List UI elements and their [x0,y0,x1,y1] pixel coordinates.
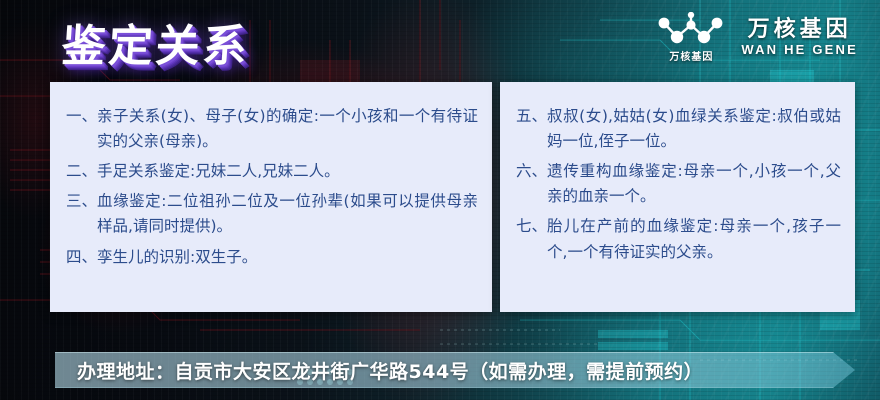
address-banner: 办理地址：自贡市大安区龙井街广华路544号（如需办理，需提前预约） [55,352,855,388]
list-item: 三、 血缘鉴定:二位祖孙二位及一位孙辈(如果可以提供母亲样品,请同时提供)。 [66,189,478,239]
list-item: 二、 手足关系鉴定:兄妹二人,兄妹二人。 [66,159,478,184]
list-item-text: 血缘鉴定:二位祖孙二位及一位孙辈(如果可以提供母亲样品,请同时提供)。 [97,189,478,239]
list-item-text: 胎儿在产前的血缘鉴定:母亲一个,孩子一个,一个有待证实的父亲。 [547,214,841,264]
content-panel-left: 一、 亲子关系(女)、母子(女)的确定:一个小孩和一个有待证实的父亲(母亲)。 … [50,82,492,312]
address-text: 办理地址：自贡市大安区龙井街广华路544号（如需办理，需提前预约） [55,352,855,388]
molecule-node-icon [655,12,727,46]
list-item-number: 二、 [66,159,97,184]
list-item: 四、 孪生儿的识别:双生子。 [66,245,478,270]
poster-canvas: 鉴定关系 万核基因 [0,0,880,400]
list-item-number: 七、 [516,214,547,239]
content-panel-right: 五、 叔叔(女),姑姑(女)血绿关系鉴定:叔伯或姑妈一位,侄子一位。 六、 遗传… [500,82,855,312]
brand-lockup: 万核基因 万核基因 WAN HE GENE [655,12,858,63]
brand-name-cn: 万核基因 [748,17,852,41]
list-item: 五、 叔叔(女),姑姑(女)血绿关系鉴定:叔伯或姑妈一位,侄子一位。 [516,104,841,154]
list-item: 六、 遗传重构血缘鉴定:母亲一个,小孩一个,父亲的血亲一个。 [516,159,841,209]
list-item-text: 叔叔(女),姑姑(女)血绿关系鉴定:叔伯或姑妈一位,侄子一位。 [547,104,841,154]
list-item-text: 孪生儿的识别:双生子。 [97,245,478,270]
list-item-text: 亲子关系(女)、母子(女)的确定:一个小孩和一个有待证实的父亲(母亲)。 [97,104,478,154]
list-item-text: 遗传重构血缘鉴定:母亲一个,小孩一个,父亲的血亲一个。 [547,159,841,209]
list-item: 一、 亲子关系(女)、母子(女)的确定:一个小孩和一个有待证实的父亲(母亲)。 [66,104,478,154]
list-item-number: 四、 [66,245,97,270]
brand-mark: 万核基因 [655,12,727,63]
brand-name-en: WAN HE GENE [741,43,858,57]
list-item-number: 一、 [66,104,97,129]
brand-mark-caption: 万核基因 [669,48,713,63]
list-item-number: 六、 [516,159,547,184]
list-item-number: 三、 [66,189,97,214]
list-item: 七、 胎儿在产前的血缘鉴定:母亲一个,孩子一个,一个有待证实的父亲。 [516,214,841,264]
brand-wordmark: 万核基因 WAN HE GENE [741,17,858,57]
list-item-number: 五、 [516,104,547,129]
list-item-text: 手足关系鉴定:兄妹二人,兄妹二人。 [97,159,478,184]
page-title: 鉴定关系 [60,10,252,74]
